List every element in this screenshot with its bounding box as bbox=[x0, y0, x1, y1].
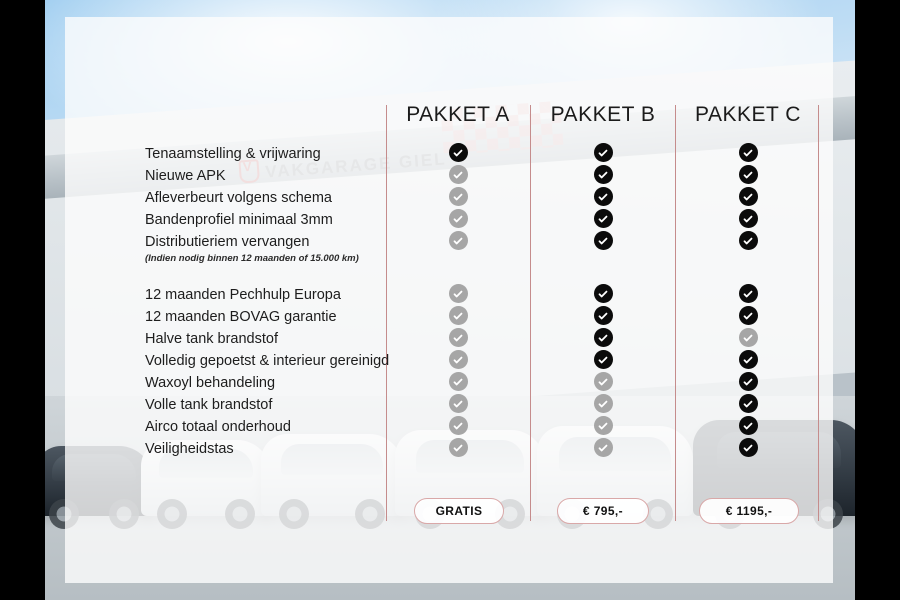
check-icon-c-included bbox=[739, 143, 758, 162]
check-icon-a-excluded bbox=[449, 187, 468, 206]
check-icon-c-included bbox=[739, 165, 758, 184]
column-header-c: PAKKET C bbox=[678, 103, 818, 127]
column-divider-4 bbox=[818, 105, 819, 521]
package-comparison-panel: PAKKET APAKKET BPAKKET CTenaamstelling &… bbox=[65, 17, 833, 583]
column-header-b: PAKKET B bbox=[533, 103, 673, 127]
check-icon-c-included bbox=[739, 231, 758, 250]
check-icon-b-included bbox=[594, 187, 613, 206]
check-icon-c-included bbox=[739, 394, 758, 413]
feature-note: (Indien nodig binnen 12 maanden of 15.00… bbox=[145, 253, 359, 264]
check-icon-a-excluded bbox=[449, 231, 468, 250]
check-icon-c-included bbox=[739, 350, 758, 369]
check-icon-b-excluded bbox=[594, 372, 613, 391]
check-icon-c-included bbox=[739, 416, 758, 435]
check-icon-b-included bbox=[594, 143, 613, 162]
check-icon-b-excluded bbox=[594, 416, 613, 435]
feature-label: Veiligheidstas bbox=[145, 442, 234, 457]
check-icon-b-included bbox=[594, 165, 613, 184]
feature-label: Distributieriem vervangen bbox=[145, 235, 309, 250]
check-icon-a-excluded bbox=[449, 328, 468, 347]
check-icon-b-included bbox=[594, 284, 613, 303]
check-icon-a-excluded bbox=[449, 438, 468, 457]
feature-label: Waxoyl behandeling bbox=[145, 376, 275, 391]
check-icon-a-excluded bbox=[449, 350, 468, 369]
check-icon-b-included bbox=[594, 328, 613, 347]
check-icon-b-excluded bbox=[594, 438, 613, 457]
column-divider-1 bbox=[386, 105, 387, 521]
feature-label: Afleverbeurt volgens schema bbox=[145, 191, 332, 206]
check-icon-a-excluded bbox=[449, 394, 468, 413]
check-icon-b-included bbox=[594, 350, 613, 369]
screenshot-frame: VAKGARAGE GIEL PAKKET A bbox=[0, 0, 900, 600]
price-badge-a[interactable]: GRATIS bbox=[414, 498, 504, 524]
check-icon-a-excluded bbox=[449, 372, 468, 391]
check-icon-b-excluded bbox=[594, 394, 613, 413]
feature-label: Nieuwe APK bbox=[145, 169, 226, 184]
check-icon-a-excluded bbox=[449, 284, 468, 303]
check-icon-c-included bbox=[739, 209, 758, 228]
feature-label: Airco totaal onderhoud bbox=[145, 420, 291, 435]
feature-label: Volle tank brandstof bbox=[145, 398, 272, 413]
check-icon-c-included bbox=[739, 306, 758, 325]
column-divider-3 bbox=[675, 105, 676, 521]
check-icon-b-included bbox=[594, 209, 613, 228]
feature-label: Bandenprofiel minimaal 3mm bbox=[145, 213, 333, 228]
feature-label: 12 maanden BOVAG garantie bbox=[145, 310, 337, 325]
check-icon-c-included bbox=[739, 187, 758, 206]
column-divider-2 bbox=[530, 105, 531, 521]
feature-label: Volledig gepoetst & interieur gereinigd bbox=[145, 354, 389, 369]
feature-label: Tenaamstelling & vrijwaring bbox=[145, 147, 321, 162]
price-badge-b[interactable]: € 795,- bbox=[557, 498, 649, 524]
check-icon-c-included bbox=[739, 372, 758, 391]
check-icon-c-included bbox=[739, 284, 758, 303]
check-icon-a-included bbox=[449, 143, 468, 162]
check-icon-a-excluded bbox=[449, 416, 468, 435]
check-icon-c-included bbox=[739, 438, 758, 457]
feature-label: Halve tank brandstof bbox=[145, 332, 278, 347]
check-icon-b-included bbox=[594, 231, 613, 250]
check-icon-b-included bbox=[594, 306, 613, 325]
column-header-a: PAKKET A bbox=[388, 103, 528, 127]
check-icon-a-excluded bbox=[449, 306, 468, 325]
feature-label: 12 maanden Pechhulp Europa bbox=[145, 288, 341, 303]
check-icon-a-excluded bbox=[449, 209, 468, 228]
check-icon-c-excluded bbox=[739, 328, 758, 347]
price-badge-c[interactable]: € 1195,- bbox=[699, 498, 799, 524]
check-icon-a-excluded bbox=[449, 165, 468, 184]
